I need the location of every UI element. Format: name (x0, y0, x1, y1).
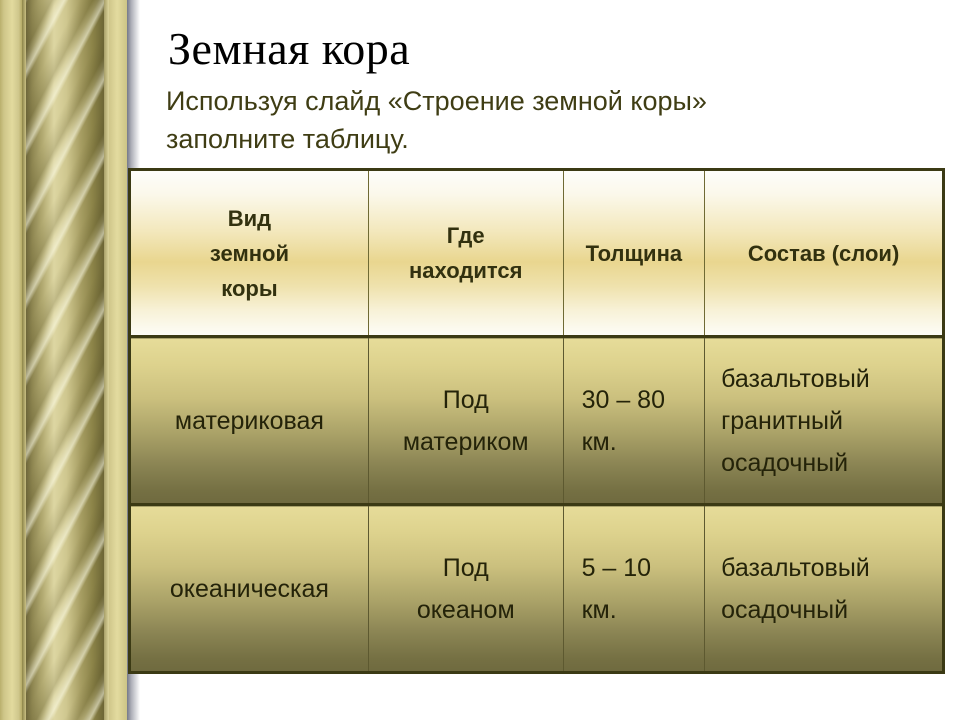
composition-layer: гранитный (721, 400, 942, 442)
cell-thickness-continental: 30 – 80 км. (563, 337, 705, 505)
instruction-line-1: Используя слайд «Строение земной коры» (166, 82, 886, 120)
table-row-oceanic: океаническая Под океаном 5 – 10 км. база… (130, 505, 944, 673)
cell-location-oceanic-line-2: океаном (369, 589, 563, 631)
cell-kind-continental: материковая (130, 337, 369, 505)
table-row-continental: материковая Под материком 30 – 80 км. ба… (130, 337, 944, 505)
cell-composition-oceanic: базальтовый осадочный (705, 505, 944, 673)
column-header-composition-line-1: Состав (слои) (705, 236, 942, 271)
column-header-thickness-line-1: Толщина (564, 236, 705, 271)
column-header-kind-line-3: коры (131, 271, 368, 306)
composition-layer: базальтовый (721, 547, 942, 589)
table-header-row: Вид земной коры Где находится Толщина Со… (130, 170, 944, 337)
column-header-location: Где находится (368, 170, 563, 337)
column-header-kind: Вид земной коры (130, 170, 369, 337)
instruction-text: Используя слайд «Строение земной коры» з… (166, 82, 886, 158)
gold-rope-column-ornament (0, 0, 140, 720)
composition-layer: осадочный (721, 442, 942, 484)
column-header-thickness: Толщина (563, 170, 705, 337)
composition-layer: осадочный (721, 589, 942, 631)
cell-composition-continental: базальтовый гранитный осадочный (705, 337, 944, 505)
cell-thickness-oceanic: 5 – 10 км. (563, 505, 705, 673)
cell-location-continental: Под материком (368, 337, 563, 505)
instruction-line-2: заполните таблицу. (166, 120, 886, 158)
cell-thickness-continental-line-1: 30 – 80 (582, 379, 705, 421)
slide-canvas: Земная кора Используя слайд «Строение зе… (0, 0, 960, 720)
column-header-location-line-2: находится (369, 253, 563, 288)
cell-kind-oceanic: океаническая (130, 505, 369, 673)
earth-crust-table: Вид земной коры Где находится Толщина Со… (128, 168, 945, 674)
ornament-inner-band (109, 0, 127, 720)
column-header-kind-line-2: земной (131, 236, 368, 271)
composition-layer: базальтовый (721, 358, 942, 400)
column-header-kind-line-1: Вид (131, 201, 368, 236)
cell-location-oceanic-line-1: Под (369, 547, 563, 589)
cell-thickness-continental-line-2: км. (582, 421, 705, 463)
cell-location-continental-line-2: материком (369, 421, 563, 463)
column-header-composition: Состав (слои) (705, 170, 944, 337)
cell-thickness-oceanic-line-1: 5 – 10 (582, 547, 705, 589)
page-title: Земная кора (168, 22, 410, 75)
column-header-location-line-1: Где (369, 218, 563, 253)
cell-location-continental-line-1: Под (369, 379, 563, 421)
cell-location-oceanic: Под океаном (368, 505, 563, 673)
twisted-rope-icon (26, 0, 104, 720)
ornament-outer-band (0, 0, 22, 720)
cell-thickness-oceanic-line-2: км. (582, 589, 705, 631)
